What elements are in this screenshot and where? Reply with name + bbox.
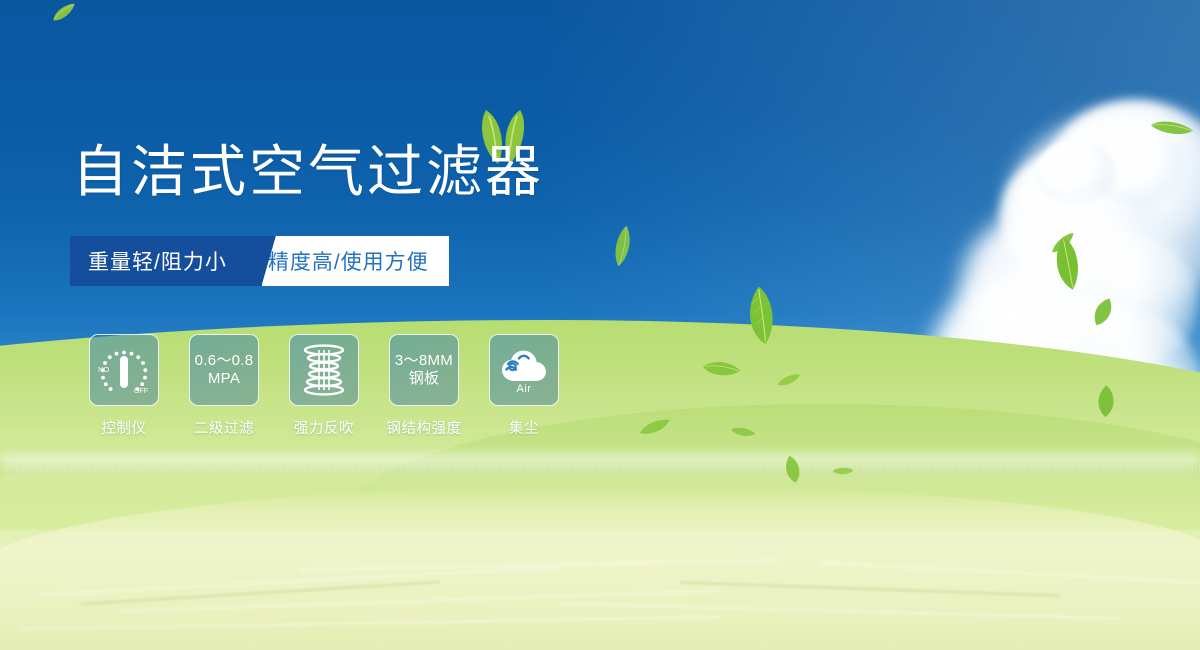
tagline-left: 重量轻/阻力小 xyxy=(70,236,247,286)
gauge-label-no: NO xyxy=(98,365,109,374)
tagline-right: 精度高/使用方便 xyxy=(262,236,449,286)
pressure-value-line2: MPA xyxy=(208,370,240,388)
gauge-icon: NO OFF xyxy=(95,342,153,398)
page-title: 自洁式空气过滤器 xyxy=(72,144,544,200)
air-caption: Air xyxy=(517,383,532,395)
steel-value-line1: 3～8MM xyxy=(395,352,453,370)
cloud-air-icon xyxy=(497,347,551,385)
feature-label: 钢结构强度 xyxy=(386,417,462,438)
feature-icon-box: 3～8MM 钢板 xyxy=(389,334,459,406)
feature-item-reverse-blow[interactable]: 强力反吹 xyxy=(274,334,374,438)
feature-list: NO OFF 控制仪 0.6～0.8 MPA 二级过滤 xyxy=(74,334,574,438)
tagline-badge: 重量轻/阻力小 精度高/使用方便 xyxy=(70,236,449,286)
pressure-value-line1: 0.6～0.8 xyxy=(195,352,254,370)
feature-label: 二级过滤 xyxy=(194,417,254,438)
feature-label: 强力反吹 xyxy=(294,417,354,438)
feature-item-two-stage-filter[interactable]: 0.6～0.8 MPA 二级过滤 xyxy=(174,334,274,438)
feature-icon-box: Air xyxy=(489,334,559,406)
banner-content: 自洁式空气过滤器 重量轻/阻力小 精度高/使用方便 xyxy=(0,0,1200,650)
product-banner: 自洁式空气过滤器 重量轻/阻力小 精度高/使用方便 xyxy=(0,0,1200,650)
steel-value-line2: 钢板 xyxy=(409,370,440,388)
feature-icon-box: NO OFF xyxy=(89,334,159,406)
feature-item-dust-collection[interactable]: Air 集尘 xyxy=(474,334,574,438)
airflow-stack-icon xyxy=(300,344,348,396)
feature-label: 控制仪 xyxy=(101,417,146,438)
feature-item-steel-strength[interactable]: 3～8MM 钢板 钢结构强度 xyxy=(374,334,474,438)
feature-label: 集尘 xyxy=(509,417,539,438)
feature-item-control-gauge[interactable]: NO OFF 控制仪 xyxy=(74,334,174,438)
feature-icon-box xyxy=(289,334,359,406)
gauge-label-off: OFF xyxy=(134,388,148,395)
feature-icon-box: 0.6～0.8 MPA xyxy=(189,334,259,406)
